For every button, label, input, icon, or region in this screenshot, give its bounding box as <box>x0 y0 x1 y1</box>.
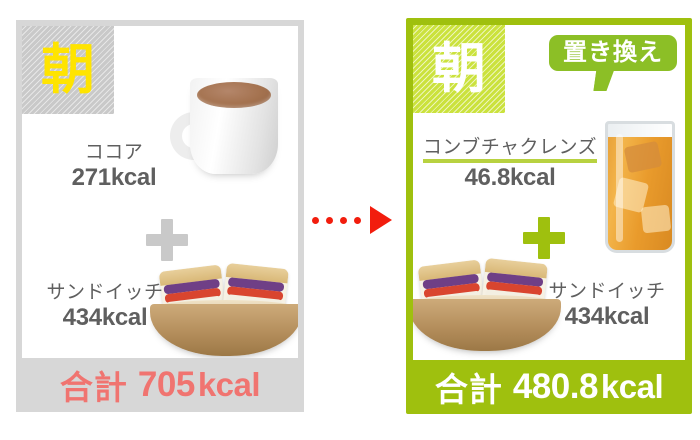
item-kcal-kombucha: 46.8kcal <box>417 165 603 192</box>
total-bar-after: 合計 480.8kcal <box>413 360 685 414</box>
item-name-sandwich-before: サンドイッチ <box>30 282 180 303</box>
after-panel-body: 朝 置き換え コンブチャクレンズ 46.8kcal <box>413 25 685 360</box>
before-panel: 朝 ココア 271kcal <box>16 20 304 412</box>
transition-arrow <box>312 206 392 234</box>
plus-sign-before <box>146 219 188 261</box>
item-row-kombucha: コンブチャクレンズ 46.8kcal <box>417 137 603 192</box>
total-bar-before: 合計 705kcal <box>22 358 298 412</box>
item-name-sandwich-after: サンドイッチ <box>531 281 683 302</box>
before-panel-body: 朝 ココア 271kcal <box>22 26 298 358</box>
total-unit-after: kcal <box>601 368 663 405</box>
meal-time-badge-after: 朝 <box>413 25 505 113</box>
item-kcal-sandwich-after: 434kcal <box>531 304 683 331</box>
item-row-sandwich-after: サンドイッチ 434kcal <box>531 281 683 331</box>
total-value-before: 705kcal <box>138 365 260 405</box>
arrow-dot-icon <box>326 217 333 224</box>
after-panel: 朝 置き換え コンブチャクレンズ 46.8kcal <box>406 18 692 414</box>
item-label-sandwich-before: サンドイッチ 434kcal <box>30 282 180 332</box>
total-label-after: 合計 <box>435 363 503 411</box>
callout-tail-icon <box>593 69 614 91</box>
cocoa-mug-image <box>174 68 298 192</box>
kombucha-glass-image <box>601 117 679 257</box>
glass-highlight-shape <box>616 134 623 242</box>
item-label-sandwich-after: サンドイッチ 434kcal <box>531 281 683 331</box>
item-row-sandwich-before: サンドイッチ 434kcal <box>30 282 180 332</box>
item-row-cocoa: ココア 271kcal <box>44 142 184 192</box>
item-label-cocoa: ココア 271kcal <box>44 142 184 192</box>
arrow-dot-icon <box>340 217 347 224</box>
arrow-head-icon <box>370 206 392 234</box>
ice-cube-shape <box>641 205 672 234</box>
total-number-after: 480.8 <box>513 367 598 406</box>
arrow-dot-icon <box>354 217 361 224</box>
callout-text: 置き換え <box>549 35 677 71</box>
meal-time-badge-before: 朝 <box>22 26 114 114</box>
total-value-after: 480.8kcal <box>513 367 663 407</box>
item-name-kombucha: コンブチャクレンズ <box>423 137 597 163</box>
item-name-cocoa: ココア <box>44 142 184 163</box>
arrow-dot-icon <box>312 217 319 224</box>
glass-body-shape <box>605 121 675 253</box>
item-kcal-sandwich-before: 434kcal <box>30 305 180 332</box>
replacement-callout: 置き換え <box>549 35 677 71</box>
cocoa-liquid-shape <box>197 82 271 108</box>
total-unit-before: kcal <box>198 366 260 403</box>
total-number-before: 705 <box>138 365 195 404</box>
item-label-kombucha: コンブチャクレンズ 46.8kcal <box>417 137 603 192</box>
total-label-before: 合計 <box>60 361 128 409</box>
item-kcal-cocoa: 271kcal <box>44 165 184 192</box>
